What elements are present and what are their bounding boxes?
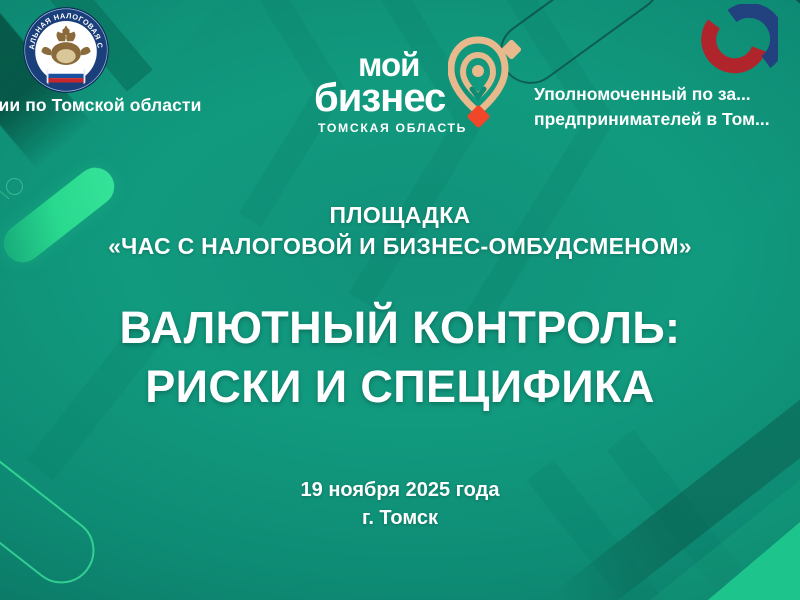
ombudsman-logo (696, 4, 778, 84)
small-ring-tail-left (0, 182, 9, 200)
rocket-pin-icon (448, 26, 526, 134)
my-business-subtitle: ТОМСКАЯ ОБЛАСТЬ (318, 121, 467, 135)
corner-triangle-bottom-right (708, 522, 800, 600)
fns-logo: ФЕДЕРАЛЬНАЯ НАЛОГОВАЯ СЛУЖБА (22, 6, 110, 94)
kicker-line-1: ПЛОЩАДКА (0, 200, 800, 231)
ombudsman-caption-line1: Уполномоченный по за... (534, 82, 800, 107)
my-business-logo: мой бизнес ТОМСКАЯ ОБЛАСТЬ (300, 22, 510, 134)
my-business-word-biznes: бизнес (314, 78, 445, 118)
ombudsman-logo-caption: Уполномоченный по за... предпринимателей… (534, 82, 800, 132)
fns-emblem-icon: ФЕДЕРАЛЬНАЯ НАЛОГОВАЯ СЛУЖБА (22, 6, 110, 94)
fns-logo-caption: ...ссии по Томской области (0, 95, 264, 116)
page-title: ВАЛЮТНЫЙ КОНТРОЛЬ: РИСКИ И СПЕЦИФИКА (0, 298, 800, 417)
event-city: г. Томск (0, 504, 800, 532)
ombudsman-circle-icon (696, 4, 778, 84)
logo-row: ФЕДЕРАЛЬНАЯ НАЛОГОВАЯ СЛУЖБА (0, 0, 800, 150)
kicker-line-2: «ЧАС С НАЛОГОВОЙ И БИЗНЕС-ОМБУДСМЕНОМ» (0, 231, 800, 262)
event-kicker: ПЛОЩАДКА «ЧАС С НАЛОГОВОЙ И БИЗНЕС-ОМБУД… (0, 200, 800, 261)
event-details: 19 ноября 2025 года г. Томск (0, 476, 800, 533)
event-date: 19 ноября 2025 года (0, 476, 800, 504)
headline-line-1: ВАЛЮТНЫЙ КОНТРОЛЬ: (0, 298, 800, 357)
small-ring-left (3, 175, 27, 199)
poster-canvas: ФЕДЕРАЛЬНАЯ НАЛОГОВАЯ СЛУЖБА (0, 0, 800, 600)
ombudsman-caption-line2: предпринимателей в Том... (534, 107, 800, 132)
headline-line-2: РИСКИ И СПЕЦИФИКА (0, 357, 800, 416)
